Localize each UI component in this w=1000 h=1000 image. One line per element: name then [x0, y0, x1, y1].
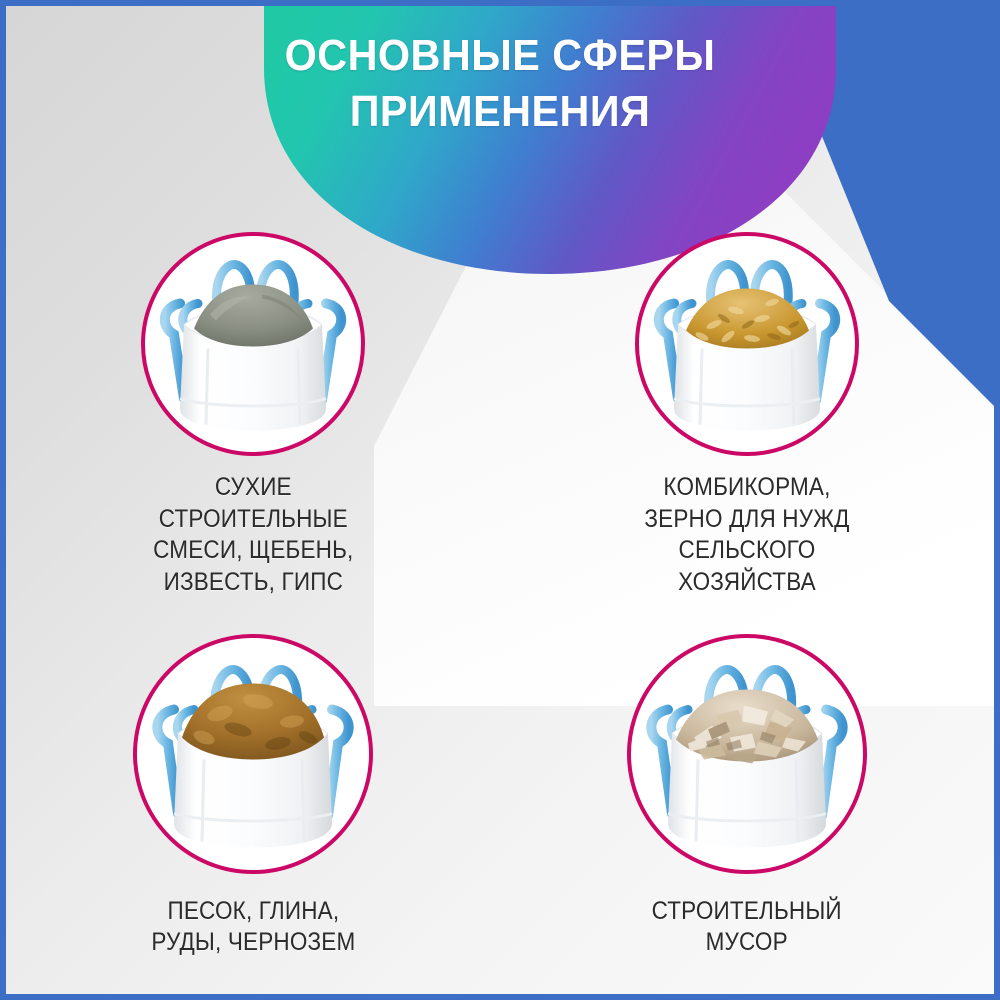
- application-item-dry-building-mixes[interactable]: СУХИЕ СТРОИТЕЛЬНЫЕ СМЕСИ, ЩЕБЕНЬ, ИЗВЕСТ…: [6, 220, 500, 620]
- image-circle-frame: [635, 232, 859, 456]
- application-item-caption: КОМБИКОРМА, ЗЕРНО ДЛЯ НУЖД СЕЛЬСКОГО ХОЗ…: [644, 472, 849, 598]
- poster-canvas: ОСНОВНЫЕ СФЕРЫ ПРИМЕНЕНИЯ: [6, 6, 994, 994]
- poster-frame: ОСНОВНЫЕ СФЕРЫ ПРИМЕНЕНИЯ: [0, 0, 1000, 1000]
- application-areas-grid: СУХИЕ СТРОИТЕЛЬНЫЕ СМЕСИ, ЩЕБЕНЬ, ИЗВЕСТ…: [6, 220, 994, 980]
- image-circle-frame: [133, 634, 373, 874]
- application-item-construction-waste[interactable]: СТРОИТЕЛЬНЫЙ МУСОР: [500, 620, 994, 981]
- application-item-feed-and-grain[interactable]: КОМБИКОРМА, ЗЕРНО ДЛЯ НУЖД СЕЛЬСКОГО ХОЗ…: [500, 220, 994, 620]
- application-item-caption: СУХИЕ СТРОИТЕЛЬНЫЕ СМЕСИ, ЩЕБЕНЬ, ИЗВЕСТ…: [153, 472, 353, 598]
- big-bag-with-gray-cement: [150, 249, 356, 440]
- page-title: ОСНОВНЫЕ СФЕРЫ ПРИМЕНЕНИЯ: [36, 28, 965, 141]
- big-bag-with-brown-soil: [142, 651, 364, 856]
- big-bag-with-grain: [644, 249, 850, 440]
- image-circle-frame: [627, 634, 867, 874]
- big-bag-with-construction-debris: [636, 651, 858, 856]
- application-item-sand-clay-ore-chernozem[interactable]: ПЕСОК, ГЛИНА, РУДЫ, ЧЕРНОЗЕМ: [6, 620, 500, 981]
- application-item-caption: ПЕСОК, ГЛИНА, РУДЫ, ЧЕРНОЗЕМ: [151, 896, 355, 959]
- application-item-caption: СТРОИТЕЛЬНЫЙ МУСОР: [652, 896, 842, 959]
- image-circle-frame: [141, 232, 365, 456]
